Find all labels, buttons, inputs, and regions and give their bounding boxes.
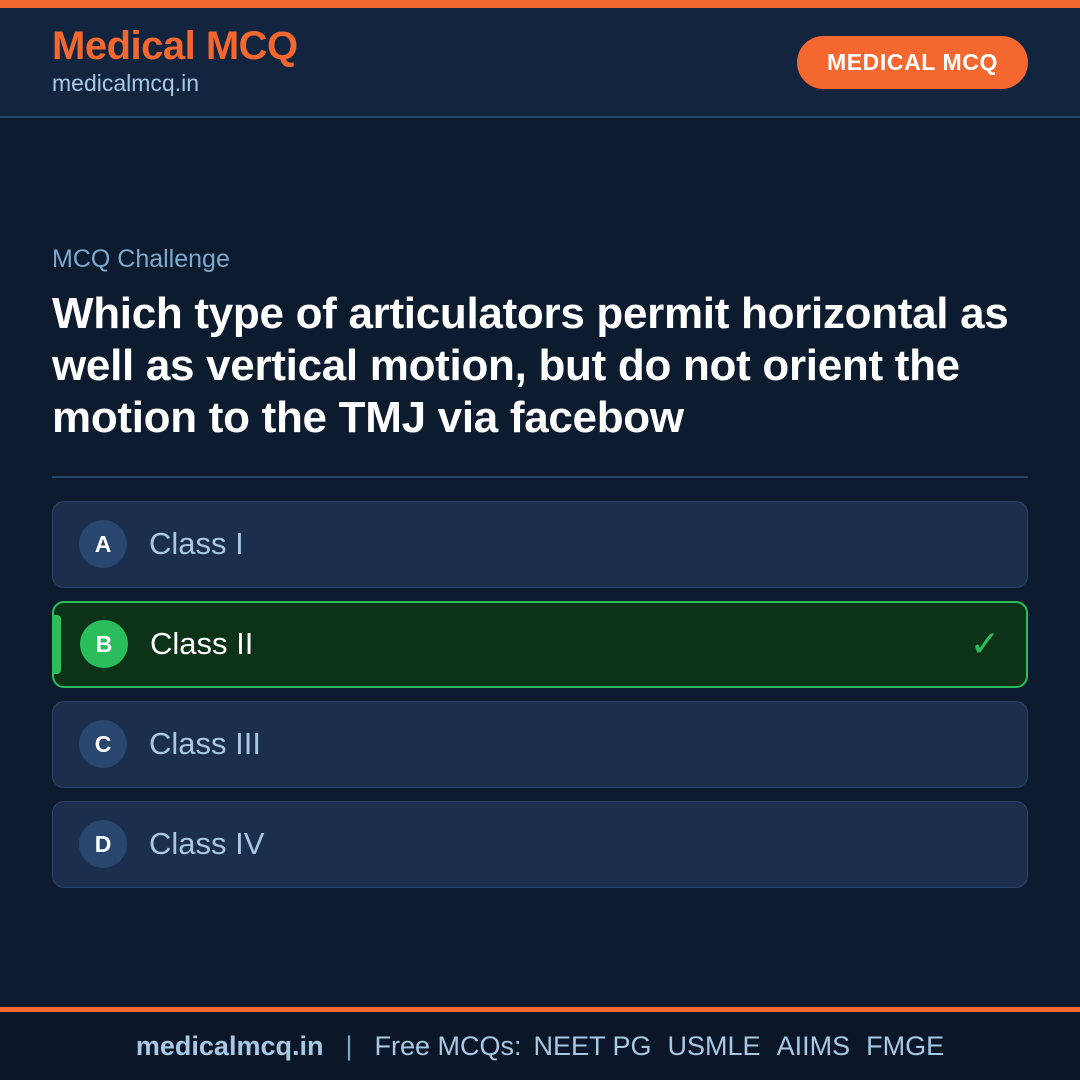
- footer-site-label: medicalmcq.in: [136, 1031, 324, 1062]
- brand-block: Medical MCQ medicalmcq.in: [52, 25, 298, 99]
- option-d[interactable]: D Class IV ✓: [52, 801, 1028, 888]
- header-badge[interactable]: MEDICAL MCQ: [797, 36, 1028, 89]
- question-divider: [52, 476, 1028, 478]
- main-content: MCQ Challenge Which type of articulators…: [0, 118, 1080, 1007]
- footer-separator: |: [345, 1031, 352, 1062]
- question-text: Which type of articulators permit horizo…: [52, 288, 1028, 444]
- option-letter-badge: B: [80, 620, 128, 668]
- top-accent-bar: [0, 0, 1080, 8]
- option-b[interactable]: B Class II ✓: [52, 601, 1028, 688]
- footer-exam-aiims: AIIMS: [777, 1031, 851, 1062]
- option-letter-badge: A: [79, 520, 127, 568]
- option-letter-badge: C: [79, 720, 127, 768]
- footer-exam-neetpg: NEET PG: [534, 1031, 652, 1062]
- footer-text: medicalmcq.in | Free MCQs: NEET PG USMLE…: [136, 1031, 944, 1062]
- check-icon: ✓: [970, 626, 1000, 662]
- footer-exam-usmle: USMLE: [668, 1031, 761, 1062]
- option-label: Class IV: [149, 827, 264, 861]
- footer-exam-fmge: FMGE: [866, 1031, 944, 1062]
- header-bar: Medical MCQ medicalmcq.in MEDICAL MCQ: [0, 8, 1080, 118]
- footer-bar: medicalmcq.in | Free MCQs: NEET PG USMLE…: [0, 1007, 1080, 1080]
- options-list: A Class I ✓ B Class II ✓ C Class III ✓ D…: [52, 501, 1028, 888]
- correct-accent-bar: [54, 615, 61, 674]
- footer-free-label: Free MCQs:: [374, 1031, 521, 1062]
- option-c[interactable]: C Class III ✓: [52, 701, 1028, 788]
- brand-title: Medical MCQ: [52, 25, 298, 67]
- option-letter-badge: D: [79, 820, 127, 868]
- option-label: Class III: [149, 727, 261, 761]
- option-label: Class II: [150, 627, 253, 661]
- option-a[interactable]: A Class I ✓: [52, 501, 1028, 588]
- brand-subtitle: medicalmcq.in: [52, 69, 298, 99]
- option-label: Class I: [149, 527, 244, 561]
- kicker-label: MCQ Challenge: [52, 244, 1028, 274]
- mcq-card: Medical MCQ medicalmcq.in MEDICAL MCQ MC…: [0, 0, 1080, 1080]
